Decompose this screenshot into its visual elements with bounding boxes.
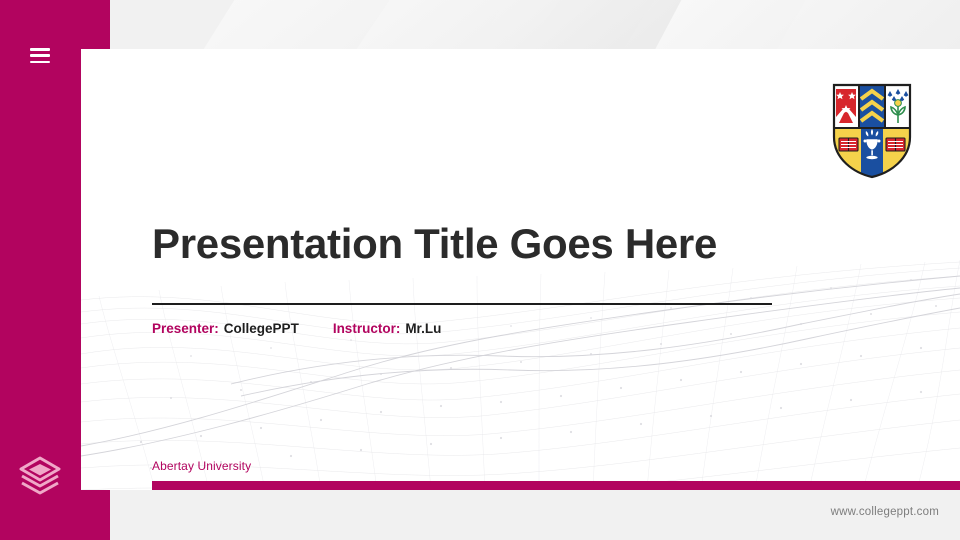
presenter-value: CollegePPT (224, 321, 299, 336)
layers-stack-icon[interactable] (14, 449, 66, 501)
instructor-label: Instructor: (333, 321, 401, 336)
presentation-meta: Presenter: CollegePPT Instructor: Mr.Lu (152, 321, 441, 336)
footer-website: www.collegeppt.com (831, 506, 939, 518)
title-divider (152, 303, 772, 305)
hamburger-menu-icon[interactable] (30, 48, 50, 63)
instructor-value: Mr.Lu (405, 321, 441, 336)
university-name: Abertay University (152, 459, 251, 473)
wireframe-mesh-graphic (81, 260, 960, 490)
presenter-label: Presenter: (152, 321, 219, 336)
presentation-page: Presentation Title Goes Here Presenter: … (0, 0, 960, 540)
abertay-university-crest (832, 83, 912, 179)
page-title: Presentation Title Goes Here (152, 222, 872, 266)
slide-canvas: Presentation Title Goes Here Presenter: … (81, 49, 960, 490)
slide-accent-bar (152, 481, 960, 490)
